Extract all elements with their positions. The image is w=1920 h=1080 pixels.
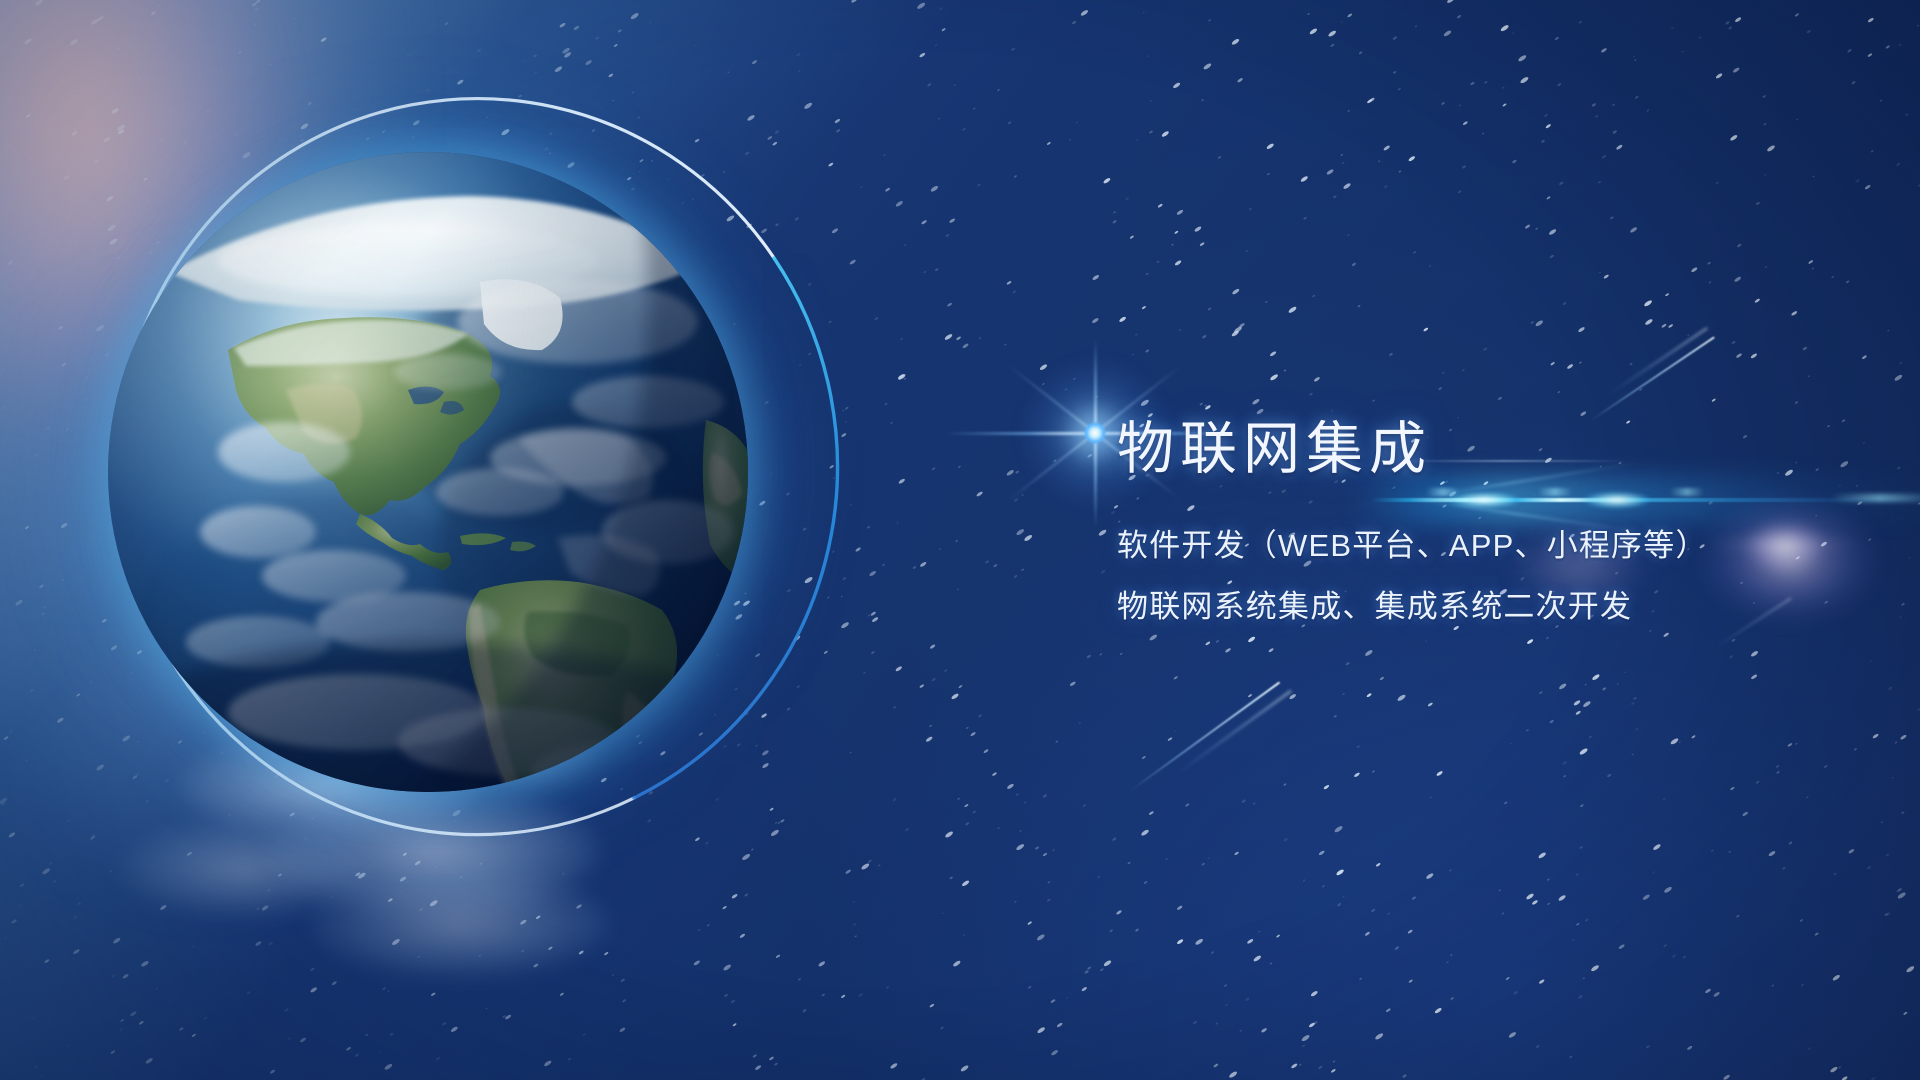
- hero-banner: 物联网集成 软件开发（WEB平台、APP、小程序等） 物联网系统集成、集成系统二…: [0, 0, 1920, 1080]
- banner-text-block: 物联网集成 软件开发（WEB平台、APP、小程序等） 物联网系统集成、集成系统二…: [1117, 418, 1877, 622]
- banner-subtitle-2: 物联网系统集成、集成系统二次开发: [1117, 591, 1877, 622]
- page-title: 物联网集成: [1117, 418, 1877, 482]
- banner-subtitle-1: 软件开发（WEB平台、APP、小程序等）: [1117, 530, 1877, 561]
